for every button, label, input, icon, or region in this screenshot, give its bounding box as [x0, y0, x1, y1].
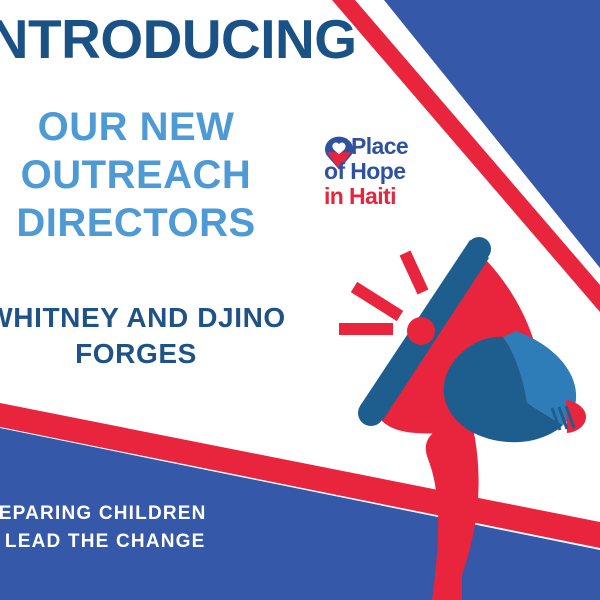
logo-wordmark: Place of Hope in Haiti [351, 134, 441, 209]
director-names-line-2: FORGES [0, 336, 286, 372]
director-names-line-1: WHITNEY AND DJINO [0, 300, 286, 336]
tagline-line-1: PREPARING CHILDREN [0, 500, 270, 528]
poster-canvas: INTRODUCING OUR NEW OUTREACH DIRECTORS W… [0, 0, 600, 600]
megaphone-speed-lines [339, 253, 423, 329]
tagline-line-2: TO LEAD THE CHANGE [0, 528, 270, 556]
megaphone-rim-cap-bottom [358, 400, 384, 426]
logo-line-3: in Haiti [324, 184, 441, 209]
subheadline-line-3: DIRECTORS [0, 199, 286, 247]
speed-line-middle [354, 287, 400, 316]
director-names: WHITNEY AND DJINO FORGES [0, 300, 286, 372]
logo[interactable]: Place of Hope in Haiti [324, 136, 432, 218]
logo-line-2: of Hope [324, 159, 441, 184]
tagline: PREPARING CHILDREN TO LEAD THE CHANGE [0, 500, 270, 556]
subheadline-line-2: OUTREACH [0, 151, 286, 199]
logo-line-1: Place [351, 134, 441, 159]
megaphone-rim-cap-top [467, 237, 491, 261]
speed-line-top [405, 253, 423, 292]
subheadline: OUR NEW OUTREACH DIRECTORS [0, 103, 286, 247]
megaphone-handle [426, 415, 479, 600]
megaphone-nub [407, 317, 435, 345]
page-title: INTRODUCING [0, 8, 394, 70]
subheadline-line-1: OUR NEW [0, 103, 286, 151]
